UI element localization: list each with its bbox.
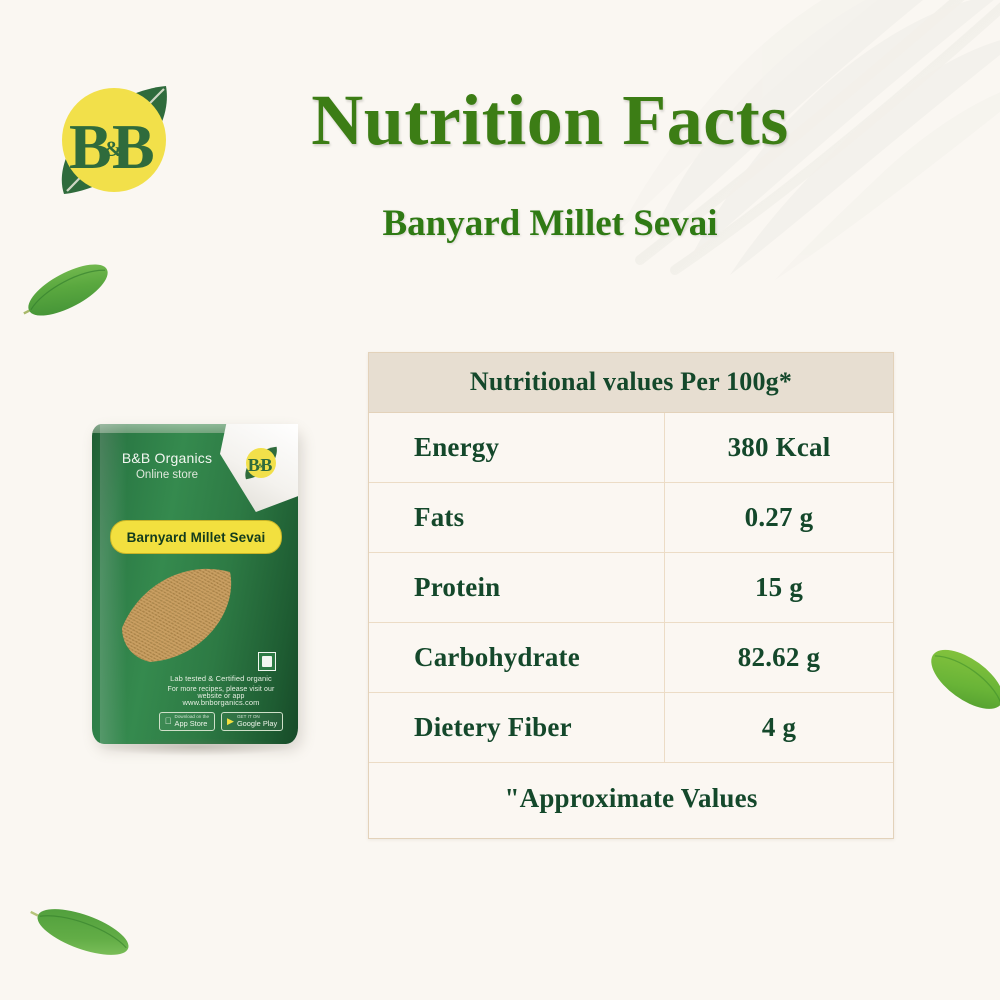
package-brand-subtitle: Online store (106, 469, 228, 481)
svg-text:&: & (258, 463, 263, 470)
page-subtitle: Banyard Millet Sevai (190, 205, 910, 242)
leaf-icon (24, 884, 142, 980)
google-play-badge-small: GET IT ON (237, 715, 277, 720)
table-row: Dietery Fiber 4 g (369, 693, 893, 763)
nutrition-facts-table: Nutritional values Per 100g* Energy 380 … (368, 352, 894, 839)
nutrient-value: 0.27 g (665, 483, 893, 552)
svg-text:&: & (104, 136, 122, 161)
bnb-organics-logo: B B & (44, 70, 184, 210)
app-store-badge-label: App Store (175, 720, 209, 728)
app-store-badge:  Download on the App Store (159, 712, 215, 731)
nutrient-value: 4 g (665, 693, 893, 762)
app-store-badge-small: Download on the (175, 715, 209, 720)
nutrient-value: 380 Kcal (665, 413, 893, 482)
leaf-icon (16, 238, 120, 342)
package-app-badges:  Download on the App Store ▶ GET IT ON … (158, 712, 284, 731)
table-header: Nutritional values Per 100g* (369, 353, 893, 413)
product-package-image: B B & B&B Organics Online store Barnyard… (92, 424, 298, 744)
package-corner-logo: B B & (240, 442, 282, 484)
mint-leaf-icon (916, 618, 1000, 736)
package-note-website: www.bnborganics.com (158, 698, 284, 707)
nutrient-value: 15 g (665, 553, 893, 622)
nutrient-value: 82.62 g (665, 623, 893, 692)
package-note-lab-tested: Lab tested & Certified organic (158, 674, 284, 683)
nutrient-label: Dietery Fiber (369, 693, 665, 762)
nutrient-label: Carbohydrate (369, 623, 665, 692)
table-row: Energy 380 Kcal (369, 413, 893, 483)
nutrient-label: Protein (369, 553, 665, 622)
package-product-label: Barnyard Millet Sevai (110, 520, 282, 554)
table-row: Fats 0.27 g (369, 483, 893, 553)
google-play-badge: ▶ GET IT ON Google Play (221, 712, 283, 731)
google-play-badge-label: Google Play (237, 720, 277, 728)
nutrient-label: Fats (369, 483, 665, 552)
package-brand-name: B&B Organics (106, 450, 228, 466)
page-title: Nutrition Facts (190, 84, 910, 156)
table-row: Carbohydrate 82.62 g (369, 623, 893, 693)
package-drop-shadow (96, 738, 296, 756)
table-footnote: "Approximate Values (369, 763, 893, 838)
apple-icon:  (165, 717, 172, 726)
table-row: Protein 15 g (369, 553, 893, 623)
play-triangle-icon: ▶ (227, 717, 234, 726)
nutrient-label: Energy (369, 413, 665, 482)
package-certification-mark (258, 652, 276, 671)
